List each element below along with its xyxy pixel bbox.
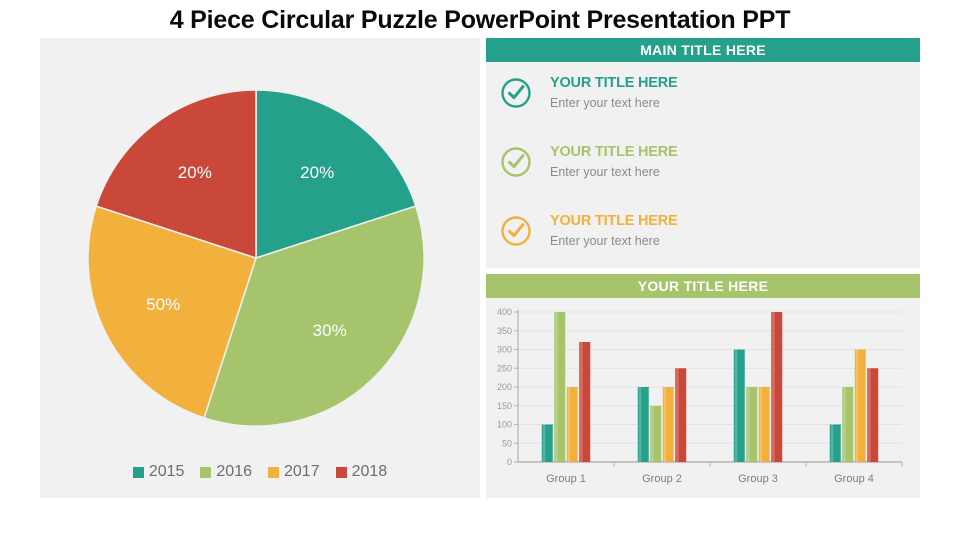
checklist-item-text: YOUR TITLE HEREEnter your text here: [550, 212, 678, 248]
y-axis-tick-label: 0: [507, 457, 512, 467]
pie-legend-item[interactable]: 2017: [268, 463, 320, 481]
bar-highlight: [772, 312, 774, 462]
pie-legend: 2015201620172018: [40, 463, 480, 481]
circle-check-icon: [500, 215, 532, 247]
pie-chart-panel: 20%30%50%20% 2015201620172018: [40, 38, 480, 498]
y-axis-tick-label: 50: [502, 438, 512, 448]
pie-legend-item[interactable]: 2016: [200, 463, 252, 481]
bar-highlight: [747, 387, 749, 462]
pie-slice-label: 30%: [313, 321, 347, 340]
page-title: 4 Piece Circular Puzzle PowerPoint Prese…: [0, 6, 960, 35]
pie-legend-label: 2016: [216, 463, 252, 481]
y-axis-tick-label: 400: [497, 307, 512, 317]
legend-swatch-icon: [268, 467, 279, 478]
pie-slice-label: 20%: [178, 163, 212, 182]
legend-swatch-icon: [133, 467, 144, 478]
checklist-item-title: YOUR TITLE HERE: [550, 212, 678, 230]
circle-check-icon: [500, 146, 532, 178]
legend-swatch-icon: [336, 467, 347, 478]
bar-highlight: [831, 425, 833, 463]
y-axis-tick-label: 100: [497, 420, 512, 430]
legend-swatch-icon: [200, 467, 211, 478]
circle-check-icon: [500, 77, 532, 109]
pie-slice-label: 20%: [300, 163, 334, 182]
checklist-item-subtitle: Enter your text here: [550, 165, 678, 179]
y-axis-tick-label: 200: [497, 382, 512, 392]
checklist: YOUR TITLE HEREEnter your text hereYOUR …: [486, 62, 920, 281]
pie-chart-svg: 20%30%50%20%: [84, 86, 428, 430]
checklist-item-title: YOUR TITLE HERE: [550, 143, 678, 161]
pie-slice-label: 50%: [146, 295, 180, 314]
bar-highlight: [760, 387, 762, 462]
bar-highlight: [664, 387, 666, 462]
bar-highlight: [580, 342, 582, 462]
pie-legend-item[interactable]: 2015: [133, 463, 185, 481]
x-axis-category-label: Group 3: [738, 473, 778, 485]
checklist-item-title: YOUR TITLE HERE: [550, 74, 678, 92]
pie-legend-label: 2018: [352, 463, 388, 481]
x-axis-category-label: Group 4: [834, 473, 874, 485]
bar-highlight: [856, 350, 858, 463]
y-axis-tick-label: 250: [497, 363, 512, 373]
checklist-item-text: YOUR TITLE HEREEnter your text here: [550, 143, 678, 179]
checklist-item[interactable]: YOUR TITLE HEREEnter your text here: [486, 212, 920, 281]
bar-highlight: [676, 368, 678, 462]
checklist-item-subtitle: Enter your text here: [550, 96, 678, 110]
checklist-item-text: YOUR TITLE HEREEnter your text here: [550, 74, 678, 110]
y-axis-tick-label: 350: [497, 326, 512, 336]
bar-chart-panel: YOUR TITLE HERE 050100150200250300350400…: [486, 274, 920, 498]
bar-chart-svg: 050100150200250300350400 Group 1Group 2G…: [486, 298, 920, 498]
pie-legend-label: 2015: [149, 463, 185, 481]
checklist-item[interactable]: YOUR TITLE HEREEnter your text here: [486, 74, 920, 143]
checklist-item[interactable]: YOUR TITLE HEREEnter your text here: [486, 143, 920, 212]
pie-legend-label: 2017: [284, 463, 320, 481]
y-axis-tick-label: 150: [497, 401, 512, 411]
main-title-header: MAIN TITLE HERE: [486, 38, 920, 62]
bar-highlight: [639, 387, 641, 462]
pie-chart: 20%30%50%20%: [84, 86, 428, 430]
checklist-item-subtitle: Enter your text here: [550, 234, 678, 248]
bar-chart-header: YOUR TITLE HERE: [486, 274, 920, 298]
bar-highlight: [843, 387, 845, 462]
main-title-panel: MAIN TITLE HERE YOUR TITLE HEREEnter you…: [486, 38, 920, 268]
bar-highlight: [555, 312, 557, 462]
bar-highlight: [868, 368, 870, 462]
bar-highlight: [735, 350, 737, 463]
x-axis-category-label: Group 2: [642, 473, 682, 485]
bar-highlight: [651, 406, 653, 462]
bar-highlight: [568, 387, 570, 462]
pie-legend-item[interactable]: 2018: [336, 463, 388, 481]
x-axis-category-label: Group 1: [546, 473, 586, 485]
bar-highlight: [543, 425, 545, 463]
bar-chart: 050100150200250300350400 Group 1Group 2G…: [486, 298, 920, 498]
y-axis-tick-label: 300: [497, 345, 512, 355]
